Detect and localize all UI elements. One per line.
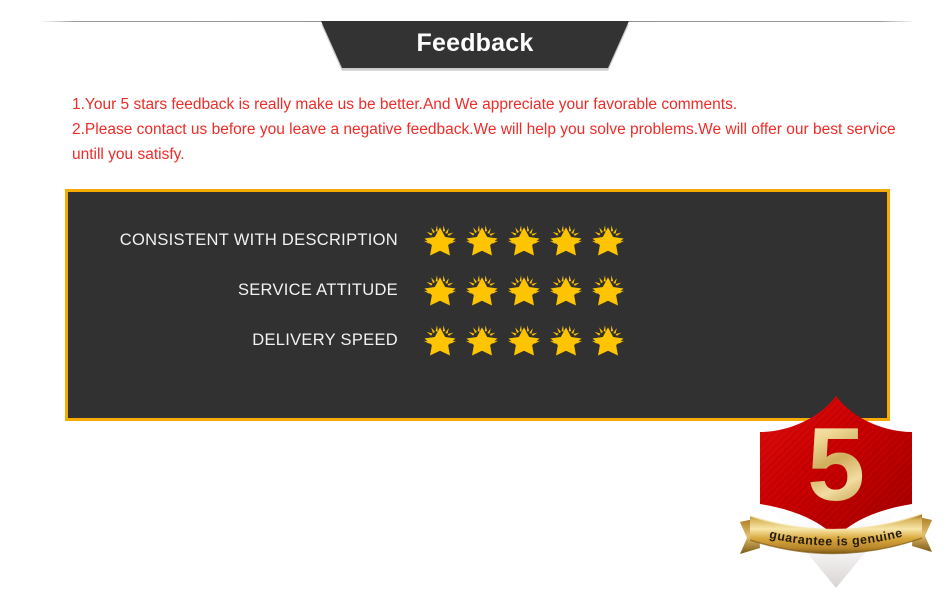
star-rating-consistent-with-description xyxy=(422,223,632,257)
sparkle-star-icon xyxy=(464,273,500,307)
guarantee-badge: guarantee is genuine 5 xyxy=(736,392,936,592)
sparkle-star-icon xyxy=(590,323,626,357)
star-rating-service-attitude xyxy=(422,273,632,307)
star-rating-delivery-speed xyxy=(422,323,632,357)
feedback-banner: Feedback xyxy=(300,21,650,68)
sparkle-star-icon xyxy=(422,223,458,257)
feedback-page: Feedback 1.Your 5 stars feedback is real… xyxy=(0,0,950,459)
sparkle-star-icon xyxy=(548,323,584,357)
sparkle-star-icon xyxy=(506,273,542,307)
sparkle-star-icon xyxy=(464,323,500,357)
rating-row: DELIVERY SPEED xyxy=(68,316,633,364)
sparkle-star-icon xyxy=(506,323,542,357)
sparkle-star-icon xyxy=(422,273,458,307)
sparkle-star-icon xyxy=(422,323,458,357)
ratings-panel: CONSISTENT WITH DESCRIPTION xyxy=(65,189,890,421)
rating-row: SERVICE ATTITUDE xyxy=(68,266,633,314)
sparkle-star-icon xyxy=(464,223,500,257)
sparkle-star-icon xyxy=(590,273,626,307)
page-title: Feedback xyxy=(417,29,534,58)
sparkle-star-icon xyxy=(548,223,584,257)
header: Feedback xyxy=(0,0,950,80)
rating-label-service-attitude: SERVICE ATTITUDE xyxy=(68,281,398,300)
sparkle-star-icon xyxy=(506,223,542,257)
feedback-notes: 1.Your 5 stars feedback is really make u… xyxy=(72,92,902,167)
sparkle-star-icon xyxy=(590,223,626,257)
ratings-list: CONSISTENT WITH DESCRIPTION xyxy=(68,216,633,366)
note-line-2: 2.Please contact us before you leave a n… xyxy=(72,117,902,167)
rating-label-consistent-with-description: CONSISTENT WITH DESCRIPTION xyxy=(68,231,398,250)
rating-label-delivery-speed: DELIVERY SPEED xyxy=(68,331,398,350)
note-line-1: 1.Your 5 stars feedback is really make u… xyxy=(72,92,902,117)
badge-number: 5 xyxy=(807,407,865,523)
rating-row: CONSISTENT WITH DESCRIPTION xyxy=(68,216,633,264)
sparkle-star-icon xyxy=(548,273,584,307)
guarantee-shield-icon: guarantee is genuine 5 xyxy=(736,392,936,592)
